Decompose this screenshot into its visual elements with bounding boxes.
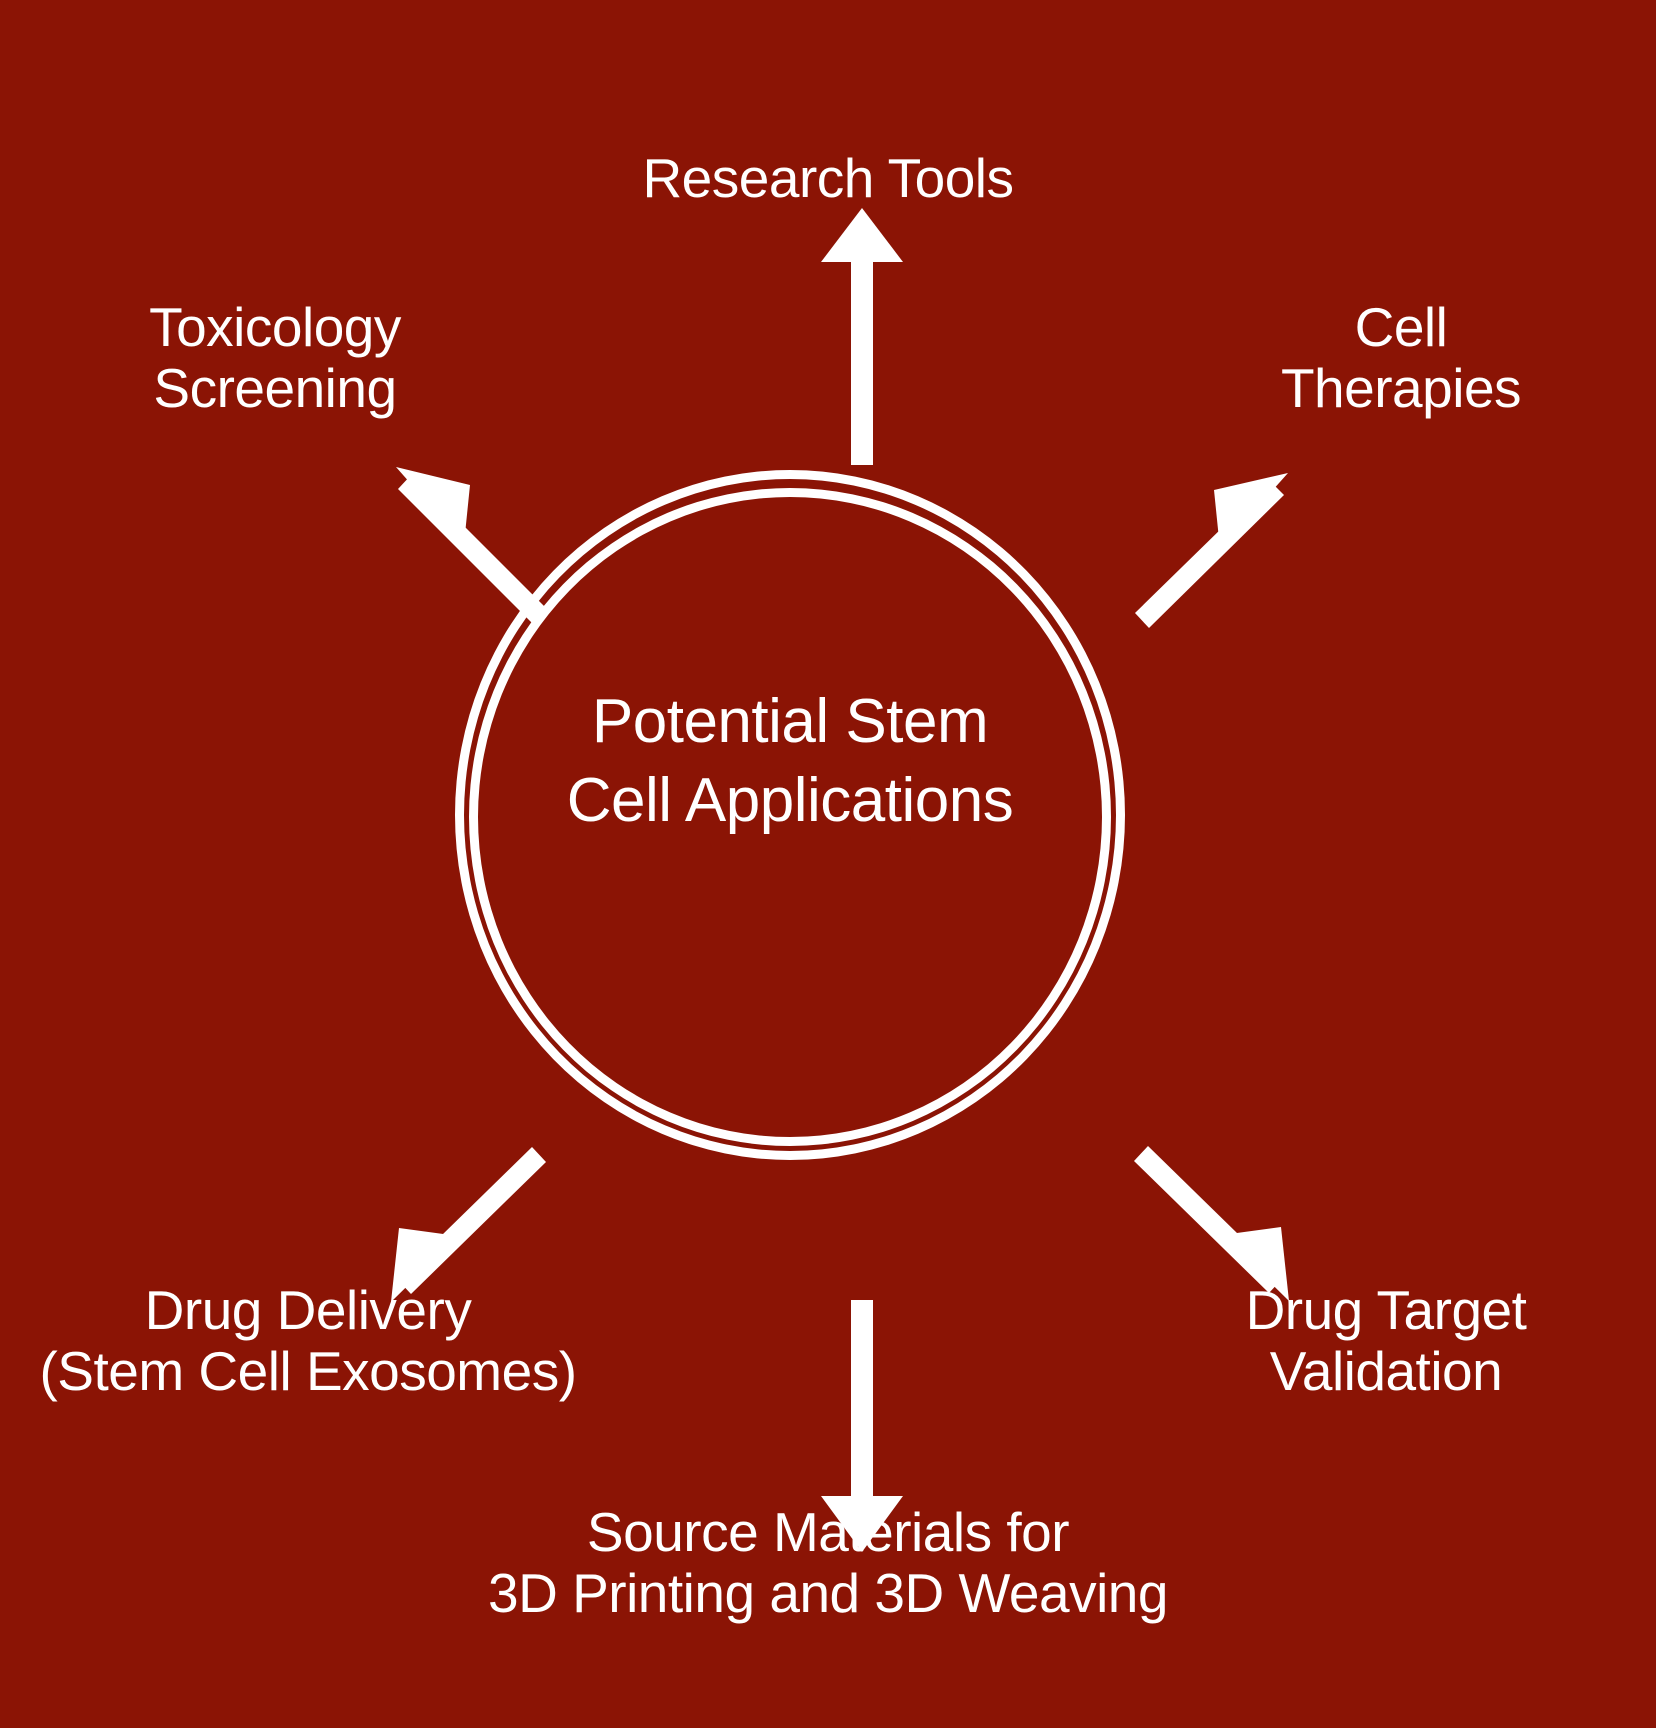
center-node-label: Potential StemCell Applications: [495, 682, 1085, 841]
node-label-toxicology-line2: Screening: [153, 357, 396, 419]
center-node-line2: Cell Applications: [567, 766, 1013, 835]
node-label-drug-target-line2: Validation: [1270, 1340, 1502, 1402]
node-label-research-tools: Research Tools: [0, 86, 1656, 209]
node-label-drug-target-line1: Drug Target: [1246, 1279, 1527, 1341]
node-label-drug-target-validation: Drug TargetValidation: [1126, 1218, 1646, 1403]
center-node: Potential StemCell Applications: [455, 470, 1125, 1160]
center-node-line1: Potential Stem: [592, 687, 988, 756]
node-label-drug-delivery-line2: (Stem Cell Exosomes): [39, 1340, 576, 1402]
node-label-source-materials-line1: Source Materials for: [587, 1501, 1069, 1563]
node-label-cell-therapies-line2: Therapies: [1281, 357, 1521, 419]
node-label-cell-therapies-line1: Cell: [1355, 296, 1448, 358]
node-label-source-materials: Source Materials for3D Printing and 3D W…: [0, 1440, 1656, 1625]
diagram-canvas: Potential StemCell Applications Research…: [0, 0, 1656, 1728]
node-label-cell-therapies: CellTherapies: [1186, 235, 1616, 420]
arrow-up-icon: [821, 208, 903, 465]
node-label-research-tools-line1: Research Tools: [642, 147, 1013, 209]
node-label-drug-delivery: Drug Delivery(Stem Cell Exosomes): [8, 1218, 608, 1403]
node-label-toxicology-line1: Toxicology: [149, 296, 401, 358]
node-label-source-materials-line2: 3D Printing and 3D Weaving: [488, 1562, 1168, 1624]
node-label-drug-delivery-line1: Drug Delivery: [145, 1279, 472, 1341]
node-label-toxicology-screening: ToxicologyScreening: [60, 235, 490, 420]
arrow-up-right-icon: [1135, 473, 1288, 628]
